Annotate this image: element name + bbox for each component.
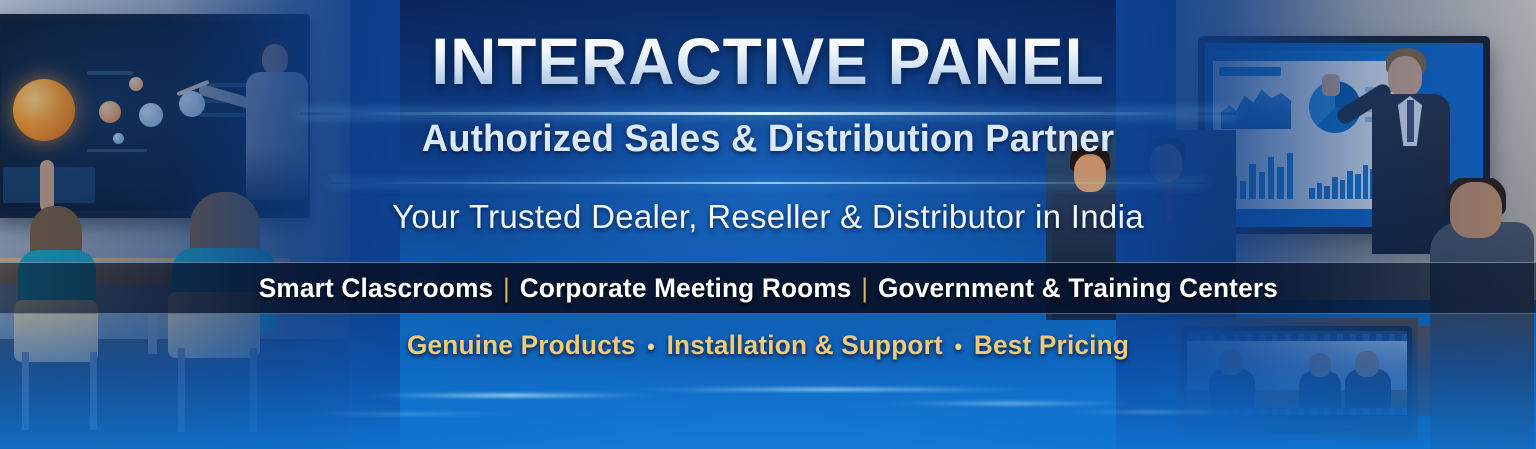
tagline: Your Trusted Dealer, Reseller & Distribu… bbox=[0, 198, 1536, 236]
page-title: INTERACTIVE PANEL bbox=[23, 28, 1513, 94]
text-layer: INTERACTIVE PANEL Authorized Sales & Dis… bbox=[0, 0, 1536, 449]
benefit-best-pricing: Best Pricing bbox=[974, 330, 1129, 360]
headline-divider bbox=[300, 112, 1236, 115]
segment-government-training-centers: Government & Training Centers bbox=[878, 273, 1278, 303]
benefit-genuine-products: Genuine Products bbox=[407, 330, 636, 360]
benefit-separator: • bbox=[955, 334, 963, 360]
segments-band: Smart Clascrooms|Corporate Meeting Rooms… bbox=[0, 262, 1536, 314]
segment-smart-classrooms: Smart Clascrooms bbox=[258, 273, 493, 303]
segment-separator: | bbox=[861, 273, 868, 303]
benefits-line: Genuine Products•Installation & Support•… bbox=[23, 330, 1513, 361]
benefit-separator: • bbox=[647, 334, 655, 360]
subtitle-divider bbox=[330, 182, 1206, 184]
benefit-installation-support: Installation & Support bbox=[667, 330, 943, 360]
interactive-panel-banner: INTERACTIVE PANEL Authorized Sales & Dis… bbox=[0, 0, 1536, 449]
subtitle: Authorized Sales & Distribution Partner bbox=[31, 118, 1506, 161]
segment-corporate-meeting-rooms: Corporate Meeting Rooms bbox=[519, 273, 851, 303]
segment-separator: | bbox=[503, 273, 510, 303]
segments-text: Smart Clascrooms|Corporate Meeting Rooms… bbox=[258, 273, 1277, 304]
